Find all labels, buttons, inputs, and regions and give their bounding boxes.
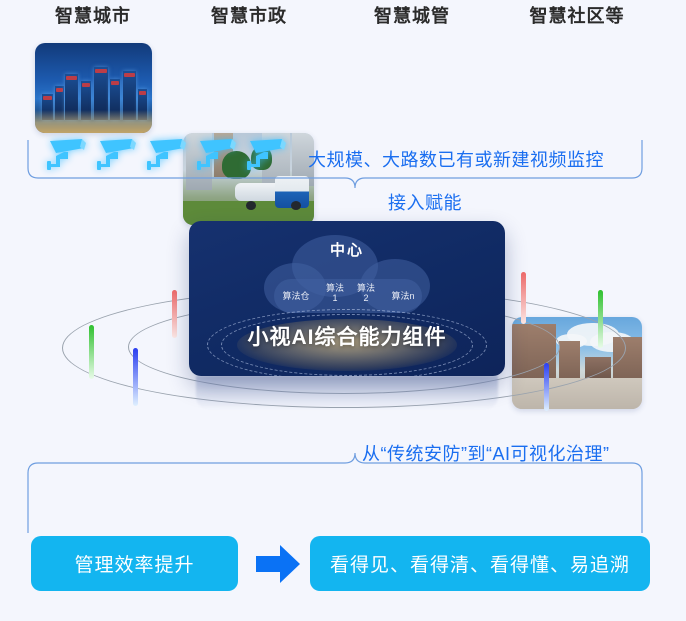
outcome-left-label: 管理效率提升 <box>74 550 194 577</box>
infographic-canvas: 智慧城市 智慧市政 智慧城管 <box>0 0 686 621</box>
cctv-camera-icon <box>44 137 90 171</box>
orbit-bar-red-right <box>521 272 526 324</box>
scene-label: 智慧城管 <box>332 6 492 26</box>
night-city-skyline-photo <box>35 43 152 133</box>
outcome-right-label: 看得见、看得清、看得懂、易追溯 <box>330 550 630 577</box>
algo-1-label: 算法 1 <box>322 283 348 303</box>
photo-truck <box>235 170 308 210</box>
orbit-bar-green-left <box>89 325 94 379</box>
orbit-bar-green-right <box>598 290 603 348</box>
outcome-right-pill[interactable]: 看得见、看得清、看得懂、易追溯 <box>310 536 650 591</box>
cctv-camera-icon <box>94 137 140 171</box>
scene-smart-municipal: 智慧市政 <box>169 6 329 26</box>
scene-label: 智慧城市 <box>13 6 173 26</box>
orbit-bar-blue-left <box>133 348 138 406</box>
right-arrow-icon <box>256 545 300 583</box>
orbit-bar-blue-right <box>544 363 549 411</box>
scene-label: 智慧市政 <box>169 6 329 26</box>
core-title: 小视AI综合能力组件 <box>189 321 505 351</box>
cctv-camera-icon <box>244 137 290 171</box>
core-center-label: 中心 <box>189 239 505 260</box>
orbit-bar-red-left <box>172 290 177 338</box>
photo-city-lights <box>35 110 152 133</box>
algo-warehouse-label: 算法仓 <box>277 291 315 301</box>
headline-access-empowerment: 接入赋能 <box>388 189 462 215</box>
headline-video-surveillance: 大规模、大路数已有或新建视频监控 <box>308 146 604 172</box>
algo-2-label: 算法 2 <box>353 283 379 303</box>
algo-n-label: 算法n <box>385 291 421 301</box>
outcome-left-pill[interactable]: 管理效率提升 <box>31 536 238 591</box>
cctv-camera-icon <box>194 137 240 171</box>
scene-label: 智慧社区等 <box>497 6 657 26</box>
cctv-camera-icon <box>144 137 190 171</box>
scene-smart-urban-management: 智慧城管 <box>332 6 492 26</box>
lower-brace <box>20 455 650 535</box>
scene-smart-community: 智慧社区等 <box>497 6 657 26</box>
core-capability-card: 中心 算法仓 算法 1 算法 2 算法n 小视AI综合能力组件 <box>189 221 505 376</box>
headline-ai-governance: 从“传统安防”到“AI可视化治理” <box>362 440 609 466</box>
core-card-reflection <box>196 376 498 410</box>
scene-smart-city: 智慧城市 <box>13 6 173 26</box>
